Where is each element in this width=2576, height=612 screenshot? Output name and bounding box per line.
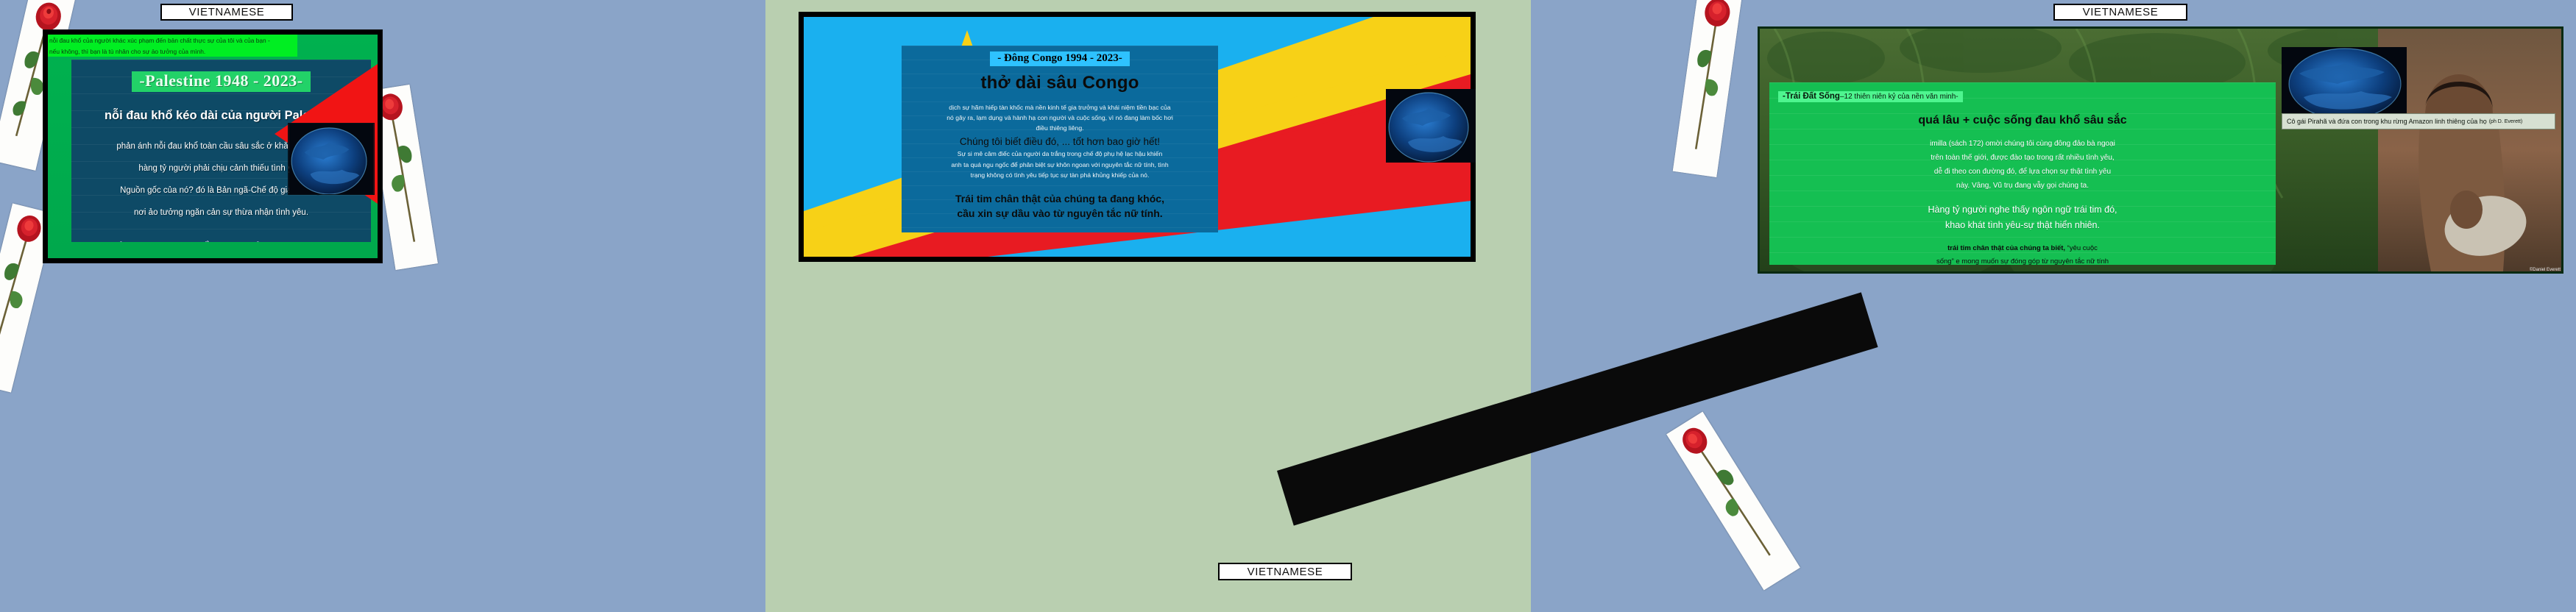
amazon-title: -Trái Đất Sống–12 thiên niên kỷ của nền …	[1778, 91, 1963, 102]
congo-shout: Chúng tôi biết điều đó, ... tốt hơn bao …	[902, 136, 1218, 147]
congo-body: dịch sự hãm hiếp tàn khốc mà nền kinh tế…	[902, 102, 1218, 133]
amazon-mid-line-1: Hàng tỷ người nghe thấy ngôn ngữ trái ti…	[1769, 202, 2276, 218]
earth-thumbnail-middle	[1386, 89, 1476, 163]
amazon-photo-caption-credit: (ph D. Everett)	[2489, 119, 2523, 124]
amazon-slide: -Trái Đất Sống–12 thiên niên kỷ của nền …	[1758, 26, 2563, 274]
palestine-green-background: nỗi đau khổ của người khác xúc phạm đến …	[48, 35, 378, 258]
vietnamese-tag-left[interactable]: VIETNAMESE	[160, 4, 293, 21]
earth-icon	[1386, 89, 1476, 163]
amazon-photo-corner-credit: ©Daniel Everett	[2530, 268, 2561, 272]
amazon-body-line-2: trên toàn thế giới, được đào tạo trong r…	[1769, 151, 2276, 165]
congo-body-2: Sự si mê câm điếc của người da trắng tro…	[902, 149, 1218, 181]
earth-thumbnail-right	[2282, 47, 2407, 113]
congo-footer-line-1: Trái tim chân thật của chúng ta đang khó…	[902, 191, 1218, 206]
congo-footer: Trái tim chân thật của chúng ta đang khó…	[902, 191, 1218, 221]
amazon-body-line-3: dễ đi theo con đường đó, để lựa chọn sự …	[1769, 165, 2276, 179]
amazon-footer-line-1: trái tim chân thật của chúng ta biết, “y…	[1769, 242, 2276, 255]
earth-icon	[289, 124, 374, 194]
amazon-mid-line-2: khao khát tình yêu-sự thật hiển nhiên.	[1769, 218, 2276, 233]
amazon-photo-caption: Cô gái Pirahã và đứa con trong khu rừng …	[2282, 113, 2555, 129]
palestine-footer-bold: Một khi chúng ta hiểu được Bản ngã thực …	[71, 240, 371, 242]
congo-footer-line-2: cầu xin sự dầu vào từ nguyên tắc nữ tính…	[902, 206, 1218, 221]
palestine-banner-line1: nỗi đau khổ của người khác xúc phạm đến …	[49, 35, 296, 46]
amazon-mid-text: Hàng tỷ người nghe thấy ngôn ngữ trái ti…	[1769, 202, 2276, 233]
palestine-body-line-4: nơi ảo tưởng ngăn cản sự thừa nhận tình …	[71, 202, 371, 224]
amazon-photo-caption-text: Cô gái Pirahã và đứa con trong khu rừng …	[2287, 118, 2487, 125]
amazon-title-rest: –12 thiên niên kỷ của nền văn minh-	[1840, 93, 1958, 101]
palestine-title: -Palestine 1948 - 2023-	[132, 71, 310, 92]
earth-icon	[2282, 47, 2407, 113]
amazon-body-line-1: imilla (sách 172) omời chúng tôi cùng đô…	[1769, 137, 2276, 151]
vietnamese-tag-right-label: VIETNAMESE	[2083, 6, 2159, 18]
congo-headline: thở dài sâu Congo	[902, 73, 1218, 93]
congo-body-line-1: dịch sự hãm hiếp tàn khốc mà nền kinh tế…	[906, 102, 1214, 113]
vietnamese-tag-right[interactable]: VIETNAMESE	[2053, 4, 2187, 21]
congo-body-line-3: điều thiêng liêng.	[906, 123, 1214, 133]
amazon-footer-rest: “yêu cuộc	[2065, 244, 2098, 252]
amazon-content-box: -Trái Đất Sống–12 thiên niên kỷ của nền …	[1769, 82, 2276, 265]
congo-body2-line-1: Sự si mê câm điếc của người da trắng tro…	[905, 149, 1215, 160]
amazon-footer-line-2: sống” e mong muốn sự đóng góp từ nguyên …	[1769, 255, 2276, 265]
congo-body2-line-3: trạng không có tình yêu tiếp tục sự tàn …	[905, 170, 1215, 181]
amazon-footer-bold: trái tim chân thật của chúng ta biết,	[1947, 244, 2065, 252]
palestine-slide: nỗi đau khổ của người khác xúc phạm đến …	[43, 29, 383, 263]
vietnamese-tag-left-label: VIETNAMESE	[189, 6, 265, 18]
amazon-body: imilla (sách 172) omời chúng tôi cùng đô…	[1769, 137, 2276, 193]
amazon-footer: trái tim chân thật của chúng ta biết, “y…	[1769, 242, 2276, 265]
amazon-headline: quá lâu + cuộc sống đau khổ sâu sắc	[1769, 114, 2276, 127]
amazon-body-line-4: này. Vâng, Vũ trụ đang vẫy gọi chúng ta.	[1769, 179, 2276, 193]
palestine-banner: nỗi đau khổ của người khác xúc phạm đến …	[48, 35, 297, 57]
amazon-title-bold: -Trái Đất Sống	[1783, 92, 1840, 101]
vietnamese-tag-middle-label: VIETNAMESE	[1248, 566, 1323, 578]
congo-slide: - Đông Congo 1994 - 2023- thở dài sâu Co…	[799, 12, 1476, 262]
collage-canvas: VIETNAMESE VIETNAMESE VIETNAMESE nỗi đau…	[0, 0, 2576, 612]
congo-body2-line-2: anh ta quá ngu ngốc để phân biệt sự khôn…	[905, 160, 1215, 171]
vietnamese-tag-middle[interactable]: VIETNAMESE	[1218, 563, 1352, 580]
palestine-banner-line2: nếu không, thì bạn là tù nhân cho sự ảo …	[49, 46, 296, 57]
earth-thumbnail-left	[288, 123, 375, 195]
congo-body-line-2: nó gây ra, lạm dụng và hành hạ con người…	[906, 113, 1214, 123]
congo-content-box: - Đông Congo 1994 - 2023- thở dài sâu Co…	[902, 46, 1218, 232]
congo-title: - Đông Congo 1994 - 2023-	[990, 51, 1130, 66]
